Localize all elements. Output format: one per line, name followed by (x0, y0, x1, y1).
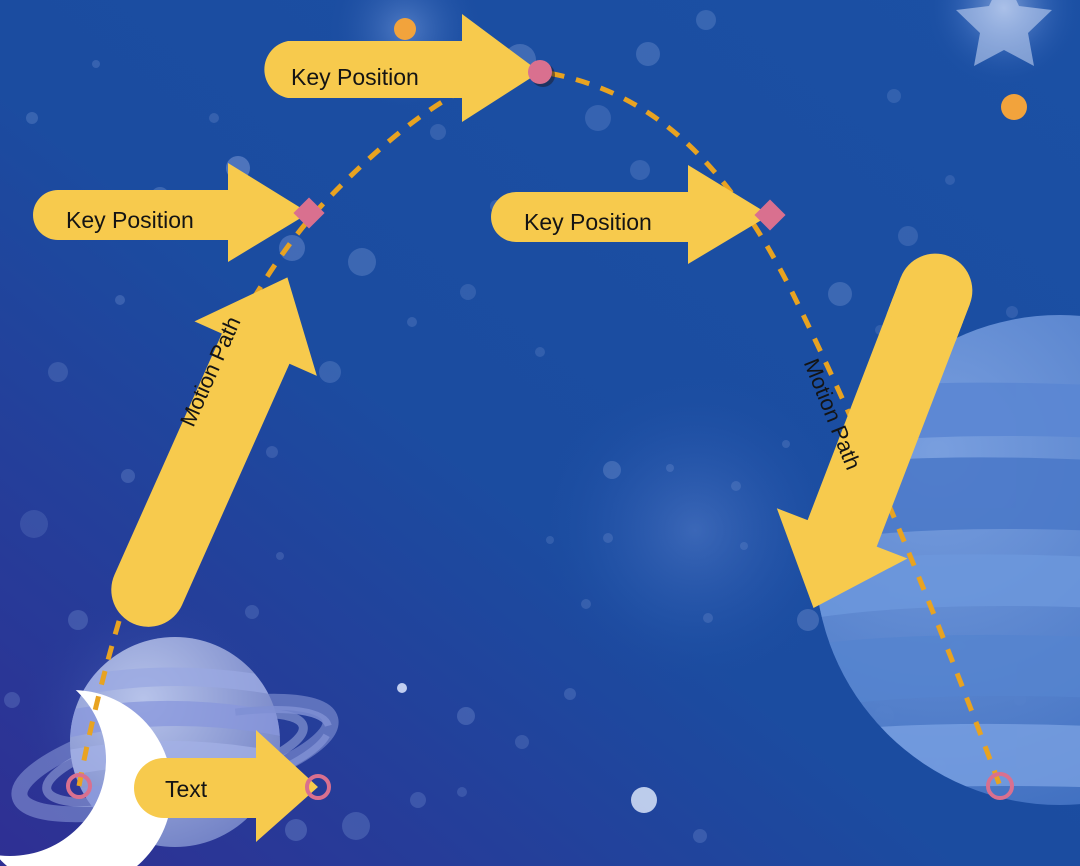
marker-right-diamond[interactable] (754, 199, 785, 230)
marker-start-circle[interactable] (68, 775, 90, 797)
marker-apex-circle[interactable] (528, 60, 552, 84)
markers-layer (0, 0, 1080, 866)
marker-mid-circle[interactable] (307, 776, 329, 798)
space-motion-path-illustration: Key Position Key Position Key Position M… (0, 0, 1080, 866)
marker-left-diamond[interactable] (293, 197, 324, 228)
marker-end-circle[interactable] (988, 774, 1012, 798)
